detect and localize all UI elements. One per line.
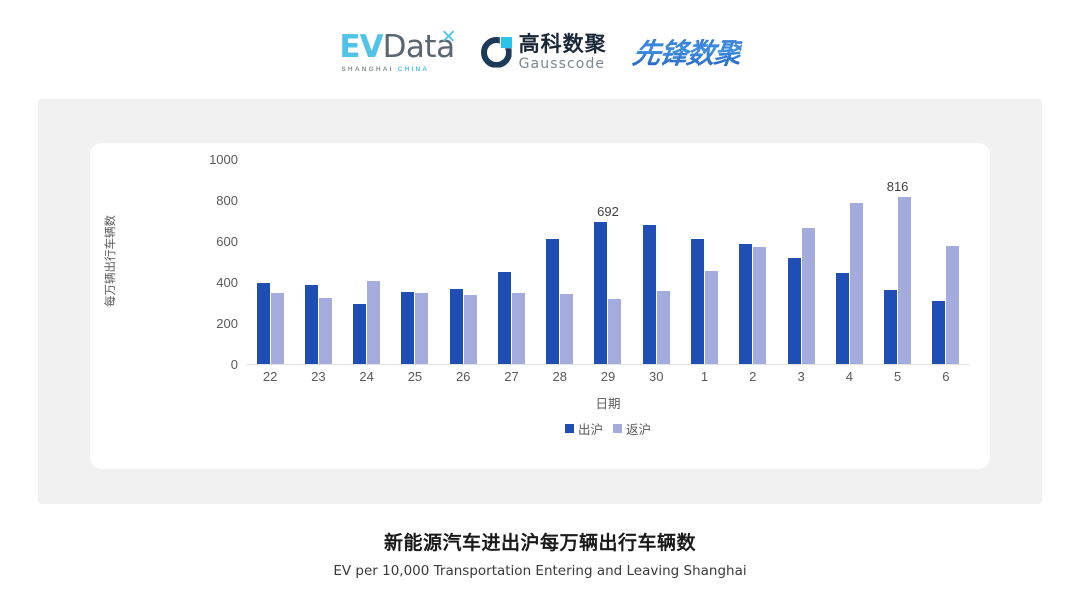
cross-icon: ✕: [441, 28, 457, 47]
bar: [450, 289, 463, 364]
evdata-city: SHANGHAI: [341, 66, 393, 73]
x-axis-label: 日期: [246, 393, 970, 412]
bar-group: [294, 159, 342, 364]
bar: [353, 304, 366, 364]
bar-group: 692: [584, 159, 632, 364]
y-axis-ticks: 10008006004002000: [192, 143, 238, 469]
logo-xianfeng: 先锋数聚: [633, 32, 741, 72]
bar-group: [439, 159, 487, 364]
bar: [512, 293, 525, 364]
bar: [305, 285, 318, 364]
bar: [946, 246, 959, 364]
x-tick-label: 3: [777, 369, 825, 389]
bar: [271, 293, 284, 364]
bar: [464, 295, 477, 364]
x-axis-line: [246, 364, 970, 365]
evdata-ev-text: EV: [339, 32, 382, 63]
evdata-country: CHINA: [398, 66, 430, 73]
bar: [415, 293, 428, 364]
x-tick-label: 2: [729, 369, 777, 389]
bar-group: [391, 159, 439, 364]
bar: [257, 283, 270, 364]
x-tick-label: 28: [536, 369, 584, 389]
x-tick-label: 23: [294, 369, 342, 389]
bar-chart: 每万辆出行车辆数 10008006004002000 692816 222324…: [90, 143, 990, 469]
x-tick-label: 6: [922, 369, 970, 389]
x-tick-label: 22: [246, 369, 294, 389]
legend-swatch: [565, 424, 574, 433]
bar-group: [680, 159, 728, 364]
bar: [401, 292, 414, 364]
x-tick-label: 5: [873, 369, 921, 389]
y-tick-label: 0: [194, 358, 238, 371]
xianfeng-cn-text: 先锋数聚: [630, 32, 744, 72]
bar-group: [536, 159, 584, 364]
bar-group: [777, 159, 825, 364]
gausscode-en-text: Gausscode: [519, 57, 607, 71]
legend-label: 返沪: [626, 419, 651, 438]
caption-block: 新能源汽车进出沪每万辆出行车辆数 EV per 10,000 Transport…: [0, 528, 1080, 579]
chart-panel: 每万辆出行车辆数 10008006004002000 692816 222324…: [38, 99, 1042, 504]
x-tick-label: 25: [391, 369, 439, 389]
logo-gausscode: 高科数聚 Gausscode: [481, 34, 607, 71]
bar: [788, 258, 801, 364]
gausscode-mark-icon: [481, 37, 512, 68]
legend-swatch: [613, 424, 622, 433]
bar-value-label: 692: [597, 204, 619, 222]
y-tick-label: 1000: [194, 153, 238, 166]
chart-legend: 出沪返沪: [246, 419, 970, 438]
x-tick-label: 27: [487, 369, 535, 389]
bar-group: [246, 159, 294, 364]
caption-title-en: EV per 10,000 Transportation Entering an…: [0, 563, 1080, 579]
plot-area: 692816: [246, 159, 970, 364]
evdata-wordmark: EV Data ✕: [339, 32, 454, 63]
chart-card: 每万辆出行车辆数 10008006004002000 692816 222324…: [90, 143, 990, 469]
logo-strip: EV Data ✕ SHANGHAI CHINA 高科数聚 Gausscode …: [0, 22, 1080, 82]
logo-evdata: EV Data ✕ SHANGHAI CHINA: [339, 32, 454, 73]
y-axis-label: 每万辆出行车辆数: [102, 181, 118, 341]
x-tick-label: 26: [439, 369, 487, 389]
bar-groups: 692816: [246, 159, 970, 364]
caption-title-cn: 新能源汽车进出沪每万辆出行车辆数: [0, 528, 1080, 555]
bar: [608, 299, 621, 364]
bar-group: 816: [873, 159, 921, 364]
evdata-subtitle: SHANGHAI CHINA: [341, 66, 429, 73]
gausscode-cn-text: 高科数聚: [519, 34, 607, 55]
x-tick-label: 4: [825, 369, 873, 389]
bar: [932, 301, 945, 364]
bar: [367, 281, 380, 364]
bar: [657, 291, 670, 364]
bar: [850, 203, 863, 364]
x-tick-label: 30: [632, 369, 680, 389]
bar: [643, 225, 656, 364]
bar-value-label: 816: [887, 179, 909, 197]
bar: [739, 244, 752, 364]
gausscode-wordmark: 高科数聚 Gausscode: [519, 34, 607, 71]
bar: [898, 197, 911, 364]
x-axis-ticks: 222324252627282930123456: [246, 369, 970, 389]
bar-group: [825, 159, 873, 364]
bar: [753, 247, 766, 364]
bar: [802, 228, 815, 364]
legend-label: 出沪: [578, 419, 603, 438]
legend-item[interactable]: 出沪: [565, 419, 603, 438]
x-tick-label: 29: [584, 369, 632, 389]
x-tick-label: 1: [680, 369, 728, 389]
bar-group: [343, 159, 391, 364]
bar-group: [632, 159, 680, 364]
y-tick-label: 600: [194, 235, 238, 248]
legend-item[interactable]: 返沪: [613, 419, 651, 438]
bar: [884, 290, 897, 364]
bar-group: [922, 159, 970, 364]
x-tick-label: 24: [343, 369, 391, 389]
bar: [498, 272, 511, 364]
y-tick-label: 800: [194, 194, 238, 207]
bar: [836, 273, 849, 364]
y-tick-label: 400: [194, 276, 238, 289]
bar: [319, 298, 332, 364]
bar: [594, 222, 607, 364]
bar-group: [487, 159, 535, 364]
bar: [705, 271, 718, 364]
bar: [691, 239, 704, 364]
bar: [560, 294, 573, 364]
bar-group: [729, 159, 777, 364]
bar: [546, 239, 559, 364]
y-tick-label: 200: [194, 317, 238, 330]
